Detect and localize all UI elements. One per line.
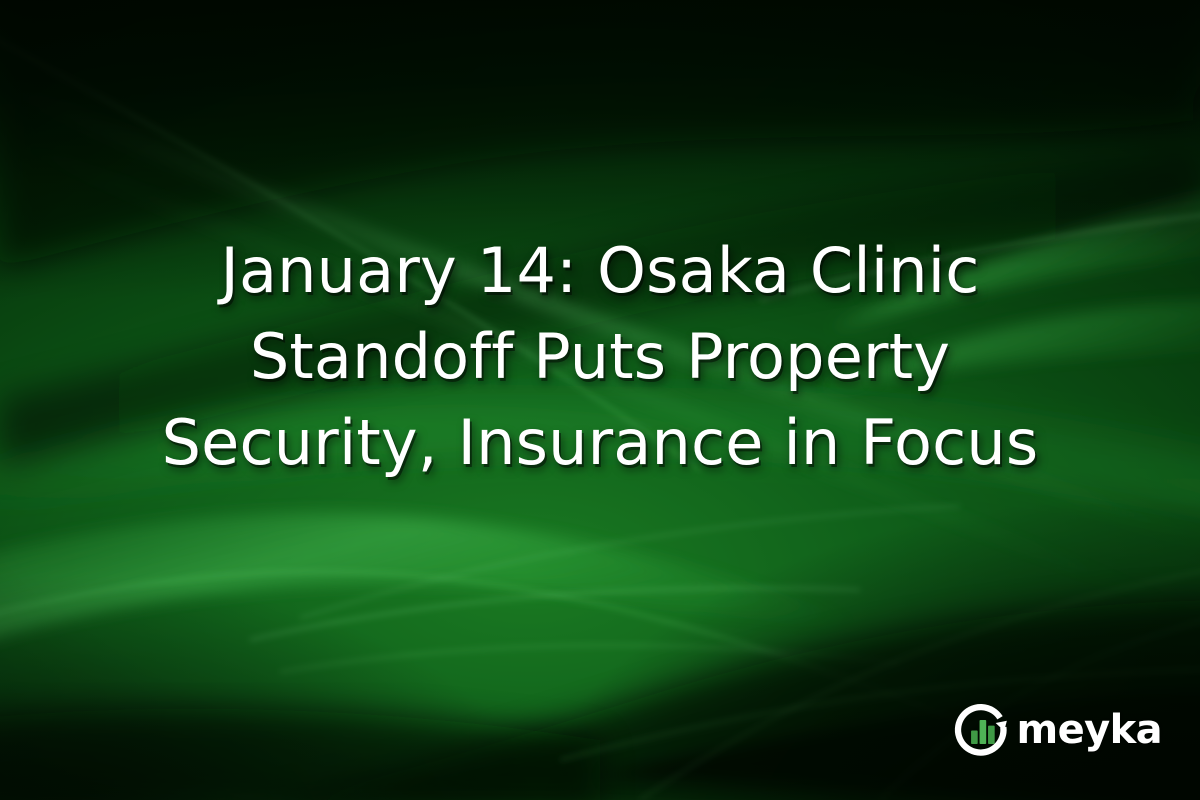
news-headline-card: January 14: Osaka Clinic Standoff Puts P… <box>0 0 1200 800</box>
meyka-logo[interactable]: meyka <box>954 702 1162 758</box>
meyka-circle-bars-icon <box>954 702 1010 758</box>
headline-container: January 14: Osaka Clinic Standoff Puts P… <box>0 0 1200 800</box>
meyka-wordmark: meyka <box>1017 710 1162 750</box>
headline-title: January 14: Osaka Clinic Standoff Puts P… <box>56 228 1144 486</box>
